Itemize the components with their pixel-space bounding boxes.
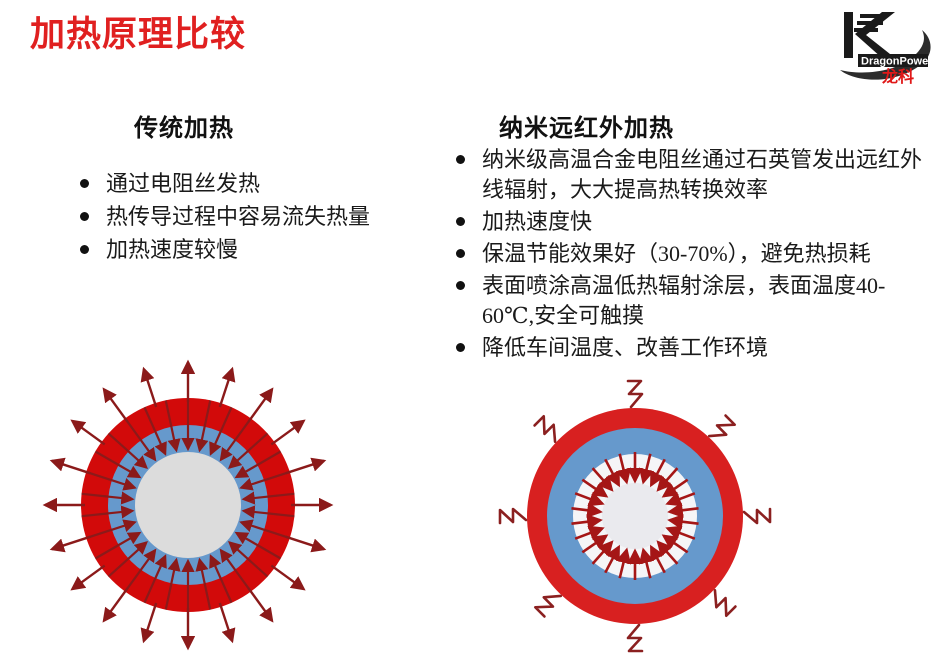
diagram-infrared-heating	[465, 360, 805, 659]
logo-k-mark-icon	[844, 12, 895, 58]
list-item-text: 保温节能效果好（30-70%），避免热损耗	[482, 241, 871, 266]
slide-canvas: 加热原理比较 DragonPower 龙科 传统加热 通过电	[0, 0, 934, 659]
column-heading-infrared: 纳米远红外加热	[499, 108, 674, 143]
bullet-dot-icon	[456, 155, 465, 164]
bullet-dot-icon	[456, 281, 465, 290]
list-item-text: 纳米级高温合金电阻丝通过石英管发出远红外线辐射，大大提高热转换效率	[482, 147, 922, 202]
bullet-list-traditional: 通过电阻丝发热 热传导过程中容易流失热量 加热速度较慢	[76, 168, 476, 267]
column-heading-traditional: 传统加热	[134, 108, 234, 143]
list-item: 降低车间温度、改善工作环境	[452, 333, 934, 363]
list-item: 纳米级高温合金电阻丝通过石英管发出远红外线辐射，大大提高热转换效率	[452, 145, 934, 205]
bullet-dot-icon	[456, 343, 465, 352]
list-item-text: 加热速度较慢	[106, 237, 238, 262]
list-item-text: 加热速度快	[482, 209, 592, 234]
list-item: 表面喷涂高温低热辐射涂层，表面温度40-60℃,安全可触摸	[452, 271, 934, 331]
list-item-text: 表面喷涂高温低热辐射涂层，表面温度40-60℃,安全可触摸	[482, 273, 885, 328]
bullet-dot-icon	[456, 217, 465, 226]
list-item-text: 通过电阻丝发热	[106, 171, 260, 196]
page-title: 加热原理比较	[30, 14, 246, 56]
logo-chinese-text: 龙科	[881, 67, 914, 84]
list-item: 保温节能效果好（30-70%），避免热损耗	[452, 239, 934, 269]
diagram-traditional-heating	[40, 355, 340, 655]
bullet-list-infrared: 纳米级高温合金电阻丝通过石英管发出远红外线辐射，大大提高热转换效率 加热速度快 …	[452, 145, 934, 365]
list-item-text: 热传导过程中容易流失热量	[106, 204, 370, 229]
ring-core	[135, 452, 241, 558]
list-item: 加热速度较慢	[76, 234, 476, 265]
list-item-text: 降低车间温度、改善工作环境	[482, 335, 768, 360]
ring-core	[602, 483, 668, 549]
logo-wordmark: DragonPower	[858, 54, 933, 68]
list-item: 加热速度快	[452, 207, 934, 237]
bullet-dot-icon	[456, 249, 465, 258]
bullet-dot-icon	[80, 245, 89, 254]
list-item: 通过电阻丝发热	[76, 168, 476, 199]
logo-latin-text: DragonPower	[861, 56, 933, 68]
bullet-dot-icon	[80, 212, 89, 221]
dragonpower-logo: DragonPower 龙科	[838, 4, 934, 84]
list-item: 热传导过程中容易流失热量	[76, 201, 476, 232]
bullet-dot-icon	[80, 179, 89, 188]
